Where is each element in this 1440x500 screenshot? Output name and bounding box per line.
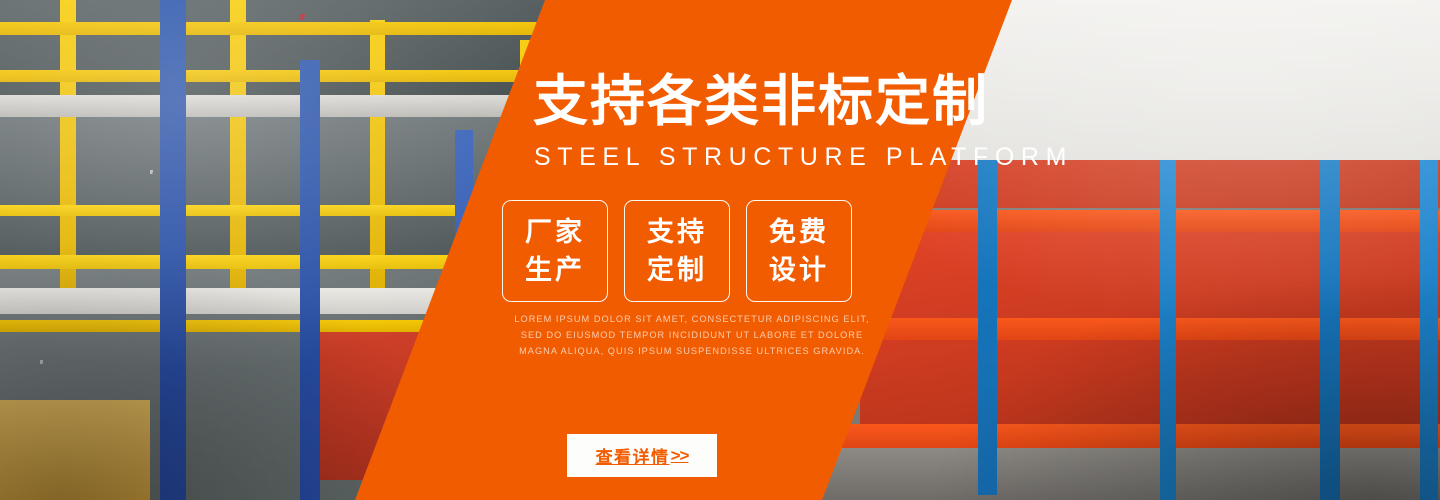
feature-tag-line2: 设计 [769, 251, 829, 289]
subtitle: STEEL STRUCTURE PLATFORM [534, 143, 1073, 172]
feature-tag-customization: 支持 定制 [624, 200, 730, 302]
description-text: LOREM IPSUM DOLOR SIT AMET, CONSECTETUR … [513, 312, 871, 359]
promo-banner: 支持各类非标定制 STEEL STRUCTURE PLATFORM 厂家 生产 … [0, 0, 1440, 500]
view-details-button[interactable]: 查看详情>> [567, 434, 717, 477]
feature-tag-line1: 支持 [647, 213, 707, 251]
feature-tag-line2: 定制 [647, 251, 707, 289]
feature-tag-free-design: 免费 设计 [746, 200, 852, 302]
feature-tag-manufacturer: 厂家 生产 [502, 200, 608, 302]
feature-tag-line2: 生产 [525, 251, 585, 289]
chevron-right-icon: >> [671, 446, 689, 466]
headline: 支持各类非标定制 [533, 72, 989, 131]
view-details-label: 查看详情 [596, 443, 670, 468]
feature-tag-line1: 厂家 [525, 213, 585, 251]
feature-tag-list: 厂家 生产 支持 定制 免费 设计 [502, 200, 852, 302]
feature-tag-line1: 免费 [769, 213, 829, 251]
